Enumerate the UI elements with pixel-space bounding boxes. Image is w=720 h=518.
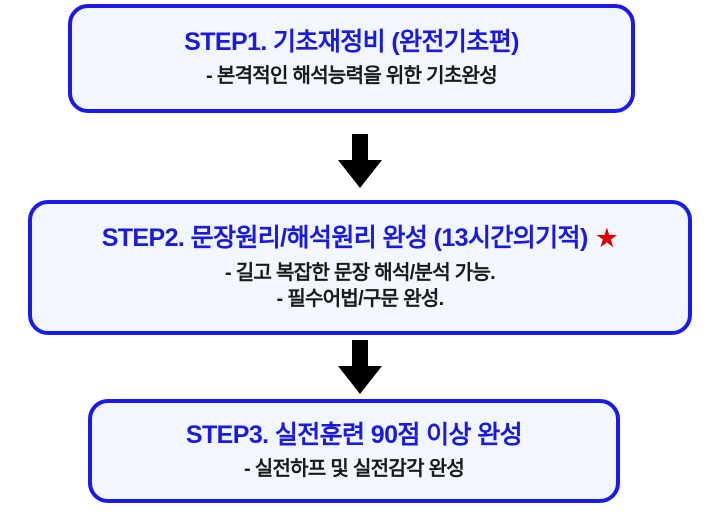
step-card-step3: STEP3. 실전훈련 90점 이상 완성 - 실전하프 및 실전감각 완성	[88, 399, 620, 503]
step-flow-diagram: STEP1. 기초재정비 (완전기초편) - 본격적인 해석능력을 위한 기초완…	[0, 0, 720, 518]
step1-title-row: STEP1. 기초재정비 (완전기초편)	[184, 28, 519, 56]
step1-subtitle-1: - 본격적인 해석능력을 위한 기초완성	[206, 64, 497, 88]
step2-title: STEP2. 문장원리/해석원리 완성 (13시간의기적)	[102, 224, 588, 252]
step3-title: STEP3. 실전훈련 90점 이상 완성	[186, 421, 522, 449]
step2-title-row: STEP2. 문장원리/해석원리 완성 (13시간의기적) ★	[102, 224, 619, 252]
step3-subtitle-1: - 실전하프 및 실전감각 완성	[244, 457, 464, 481]
step-card-step2: STEP2. 문장원리/해석원리 완성 (13시간의기적) ★ - 길고 복잡한…	[28, 200, 692, 335]
step-card-step1: STEP1. 기초재정비 (완전기초편) - 본격적인 해석능력을 위한 기초완…	[68, 4, 635, 113]
arrow-down-icon	[332, 340, 388, 396]
step2-subtitle-1: - 길고 복잡한 문장 해석/분석 가능.	[225, 261, 495, 285]
step3-title-row: STEP3. 실전훈련 90점 이상 완성	[186, 421, 522, 449]
arrow-down-icon	[332, 134, 388, 190]
step2-subtitle-2: - 필수어법/구문 완성.	[277, 287, 444, 311]
step1-title: STEP1. 기초재정비 (완전기초편)	[184, 28, 519, 56]
star-icon: ★	[595, 225, 619, 252]
